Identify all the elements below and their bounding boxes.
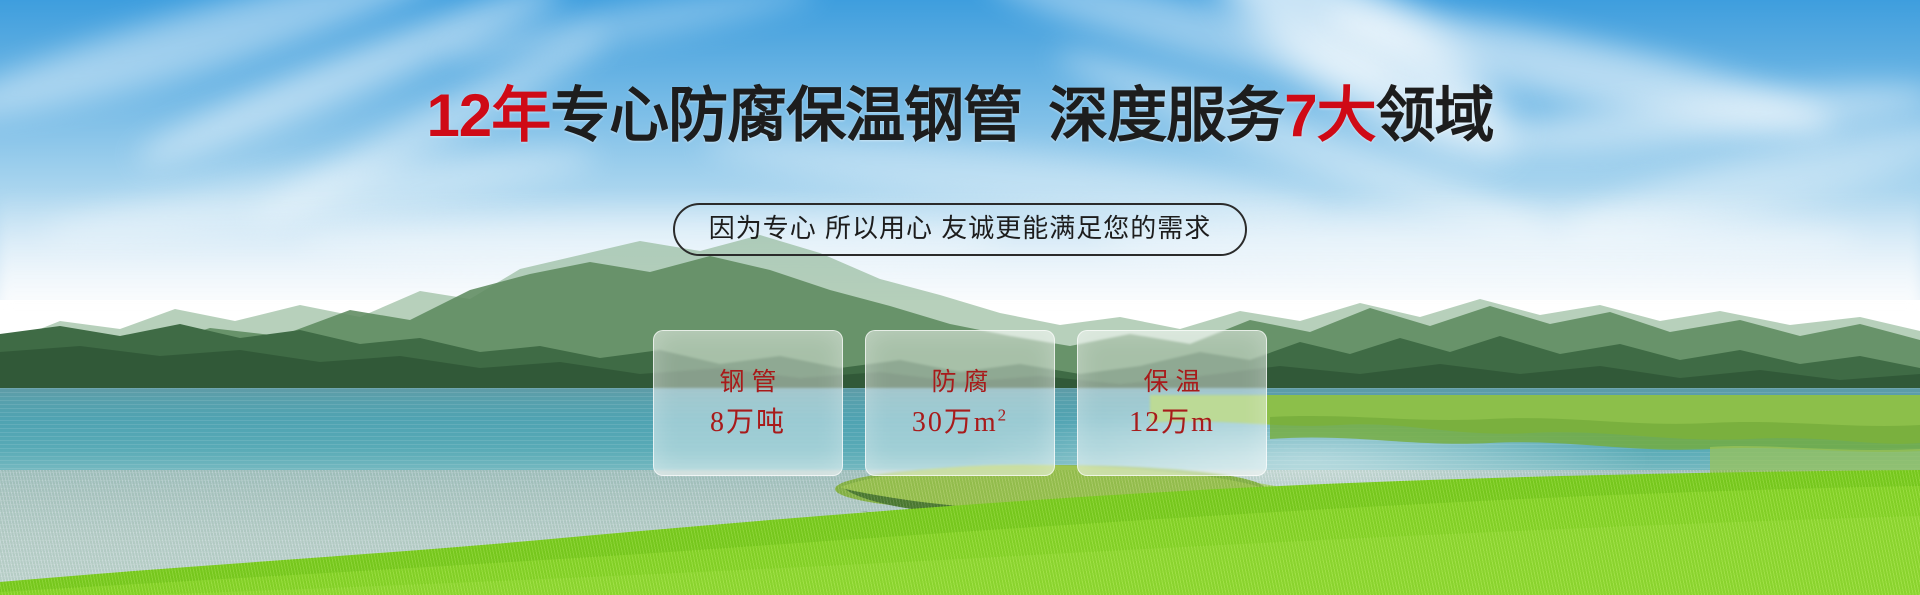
subtitle-pill: 因为专心 所以用心 友诚更能满足您的需求 — [673, 203, 1247, 256]
headline-years-unit: 年 — [491, 82, 550, 149]
stat-card-value: 30万m2 — [912, 409, 1008, 437]
headline-fields-number: 7 — [1284, 82, 1316, 149]
stat-card-value: 12万m — [1129, 409, 1215, 437]
stat-card-title: 保温 — [1136, 370, 1207, 395]
headline-service-lead: 深度服务 — [1048, 82, 1284, 149]
stat-card-insulation[interactable]: 保温 12万m — [1077, 330, 1267, 476]
subtitle-container: 因为专心 所以用心 友诚更能满足您的需求 — [0, 203, 1920, 256]
headline-fields-tail: 领域 — [1376, 82, 1494, 149]
headline-fields-unit: 大 — [1317, 82, 1376, 149]
stat-card-value: 8万吨 — [710, 409, 786, 437]
stat-card-group: 钢管 8万吨 防腐 30万m2 保温 12万m — [0, 330, 1920, 476]
hero-banner: 12年专心防腐保温钢管深度服务7大领域 因为专心 所以用心 友诚更能满足您的需求… — [0, 0, 1920, 595]
headline-years-number: 12 — [426, 82, 491, 149]
headline-main-phrase: 专心防腐保温钢管 — [550, 82, 1022, 149]
stat-card-value-base: 8万吨 — [710, 407, 786, 438]
stat-card-title: 钢管 — [712, 370, 783, 395]
foreground-grass — [0, 470, 1920, 595]
stat-card-anticorrosion[interactable]: 防腐 30万m2 — [865, 330, 1055, 476]
page-title: 12年专心防腐保温钢管深度服务7大领域 — [0, 86, 1920, 146]
stat-card-value-base: 12万m — [1129, 407, 1215, 438]
stat-card-value-superscript: 2 — [998, 405, 1009, 424]
stat-card-steel-pipe[interactable]: 钢管 8万吨 — [653, 330, 843, 476]
stat-card-value-base: 30万m — [912, 407, 998, 438]
stat-card-title: 防腐 — [924, 370, 995, 395]
